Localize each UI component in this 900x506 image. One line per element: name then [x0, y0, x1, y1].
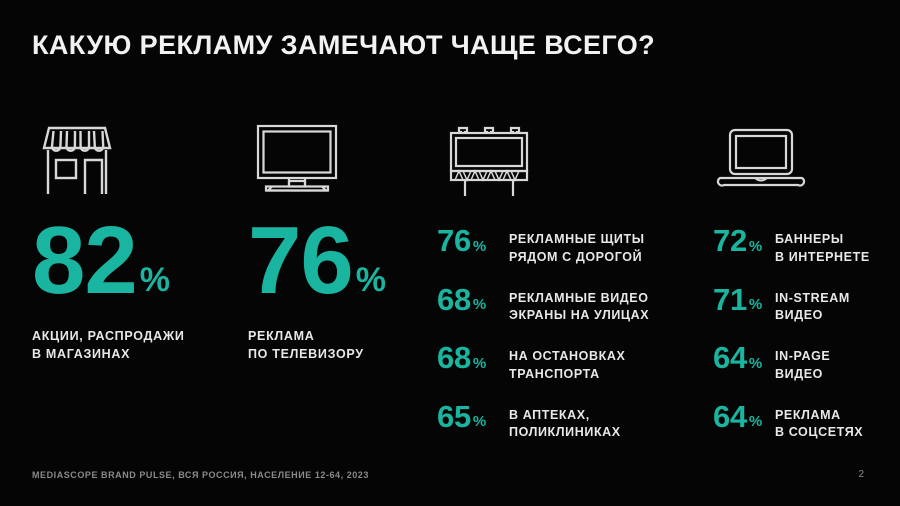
column-television: 76 % РЕКЛАМА ПО ТЕЛЕВИЗОРУ	[248, 118, 423, 363]
stat-number: 72	[713, 228, 747, 254]
label-line-2: РЯДОМ С ДОРОГОЙ	[509, 249, 645, 267]
stat-percent-sign: %	[473, 358, 486, 371]
list-item: 68 % НА ОСТАНОВКАХ ТРАНСПОРТА	[437, 345, 687, 384]
stat-number: 76	[248, 222, 353, 301]
page-title: КАКУЮ РЕКЛАМУ ЗАМЕЧАЮТ ЧАЩЕ ВСЕГО?	[32, 30, 655, 61]
label-line-2: ПО ТЕЛЕВИЗОРУ	[248, 345, 423, 363]
list-item: 72 % БАННЕРЫ В ИНТЕРНЕТЕ	[713, 228, 893, 267]
stat-number: 65	[437, 404, 471, 430]
stat-label: НА ОСТАНОВКАХ ТРАНСПОРТА	[509, 345, 625, 384]
stat-value-in-store: 82 %	[32, 222, 222, 301]
stat-number: 68	[437, 287, 471, 313]
stat-value: 72 %	[713, 228, 775, 254]
column-internet: 72 % БАННЕРЫ В ИНТЕРНЕТЕ 71 % IN-STREAM	[713, 118, 893, 442]
footer-source-note: MEDIASCOPE BRAND PULSE, ВСЯ РОССИЯ, НАСЕ…	[32, 470, 369, 480]
stat-value-television: 76 %	[248, 222, 423, 301]
stat-number: 71	[713, 287, 747, 313]
list-item: 71 % IN-STREAM ВИДЕО	[713, 287, 893, 326]
laptop-icon	[713, 118, 893, 204]
stat-label: БАННЕРЫ В ИНТЕРНЕТЕ	[775, 228, 870, 267]
label-line-2: ВИДЕО	[775, 307, 850, 325]
stat-label: РЕКЛАМНЫЕ ВИДЕО ЭКРАНЫ НА УЛИЦАХ	[509, 287, 649, 326]
stat-value: 65 %	[437, 404, 509, 430]
stat-label: IN-PAGE ВИДЕО	[775, 345, 830, 384]
list-item: 68 % РЕКЛАМНЫЕ ВИДЕО ЭКРАНЫ НА УЛИЦАХ	[437, 287, 687, 326]
television-icon	[248, 118, 423, 204]
stat-percent-sign: %	[473, 416, 486, 429]
list-item: 64 % IN-PAGE ВИДЕО	[713, 345, 893, 384]
stat-label: РЕКЛАМА В СОЦСЕТЯХ	[775, 404, 863, 443]
stat-number: 82	[32, 222, 137, 301]
stat-value: 71 %	[713, 287, 775, 313]
label-line-2: В ИНТЕРНЕТЕ	[775, 249, 870, 267]
stat-value: 68 %	[437, 287, 509, 313]
stat-percent-sign: %	[140, 267, 170, 295]
stat-number: 76	[437, 228, 471, 254]
label-line-1: НА ОСТАНОВКАХ	[509, 348, 625, 366]
page-number: 2	[858, 469, 864, 480]
stat-value: 68 %	[437, 345, 509, 371]
stat-list-internet: 72 % БАННЕРЫ В ИНТЕРНЕТЕ 71 % IN-STREAM	[713, 228, 893, 442]
label-line-2: В МАГАЗИНАХ	[32, 345, 222, 363]
stat-percent-sign: %	[749, 241, 762, 254]
stat-percent-sign: %	[749, 358, 762, 371]
stat-value: 76 %	[437, 228, 509, 254]
label-line-1: АКЦИИ, РАСПРОДАЖИ	[32, 327, 222, 345]
stat-number: 64	[713, 404, 747, 430]
slide-root: КАКУЮ РЕКЛАМУ ЗАМЕЧАЮТ ЧАЩЕ ВСЕГО? 82 %	[0, 0, 900, 506]
stat-label: IN-STREAM ВИДЕО	[775, 287, 850, 326]
stat-number: 68	[437, 345, 471, 371]
stat-percent-sign: %	[356, 267, 386, 295]
label-line-1: РЕКЛАМНЫЕ ЩИТЫ	[509, 231, 645, 249]
column-in-store: 82 % АКЦИИ, РАСПРОДАЖИ В МАГАЗИНАХ	[32, 118, 222, 363]
label-line-1: РЕКЛАМА	[775, 407, 863, 425]
stat-label-television: РЕКЛАМА ПО ТЕЛЕВИЗОРУ	[248, 327, 423, 363]
stat-percent-sign: %	[749, 416, 762, 429]
stat-value: 64 %	[713, 345, 775, 371]
stats-columns: 82 % АКЦИИ, РАСПРОДАЖИ В МАГАЗИНАХ	[0, 118, 900, 448]
stat-percent-sign: %	[473, 241, 486, 254]
label-line-1: IN-PAGE	[775, 348, 830, 366]
label-line-1: В АПТЕКАХ,	[509, 407, 621, 425]
label-line-2: ЭКРАНЫ НА УЛИЦАХ	[509, 307, 649, 325]
label-line-1: БАННЕРЫ	[775, 231, 870, 249]
label-line-2: В СОЦСЕТЯХ	[775, 424, 863, 442]
stat-percent-sign: %	[473, 299, 486, 312]
list-item: 65 % В АПТЕКАХ, ПОЛИКЛИНИКАХ	[437, 404, 687, 443]
label-line-2: ВИДЕО	[775, 366, 830, 384]
label-line-1: РЕКЛАМА	[248, 327, 423, 345]
stat-label: В АПТЕКАХ, ПОЛИКЛИНИКАХ	[509, 404, 621, 443]
stat-value: 64 %	[713, 404, 775, 430]
list-item: 76 % РЕКЛАМНЫЕ ЩИТЫ РЯДОМ С ДОРОГОЙ	[437, 228, 687, 267]
column-outdoor: 76 % РЕКЛАМНЫЕ ЩИТЫ РЯДОМ С ДОРОГОЙ 68 %…	[437, 118, 687, 442]
stat-list-outdoor: 76 % РЕКЛАМНЫЕ ЩИТЫ РЯДОМ С ДОРОГОЙ 68 %…	[437, 228, 687, 442]
billboard-icon	[437, 118, 687, 204]
label-line-2: ТРАНСПОРТА	[509, 366, 625, 384]
stat-percent-sign: %	[749, 299, 762, 312]
stat-label: РЕКЛАМНЫЕ ЩИТЫ РЯДОМ С ДОРОГОЙ	[509, 228, 645, 267]
list-item: 64 % РЕКЛАМА В СОЦСЕТЯХ	[713, 404, 893, 443]
stat-number: 64	[713, 345, 747, 371]
label-line-1: IN-STREAM	[775, 290, 850, 308]
label-line-1: РЕКЛАМНЫЕ ВИДЕО	[509, 290, 649, 308]
stat-label-in-store: АКЦИИ, РАСПРОДАЖИ В МАГАЗИНАХ	[32, 327, 222, 363]
label-line-2: ПОЛИКЛИНИКАХ	[509, 424, 621, 442]
storefront-icon	[32, 118, 222, 204]
